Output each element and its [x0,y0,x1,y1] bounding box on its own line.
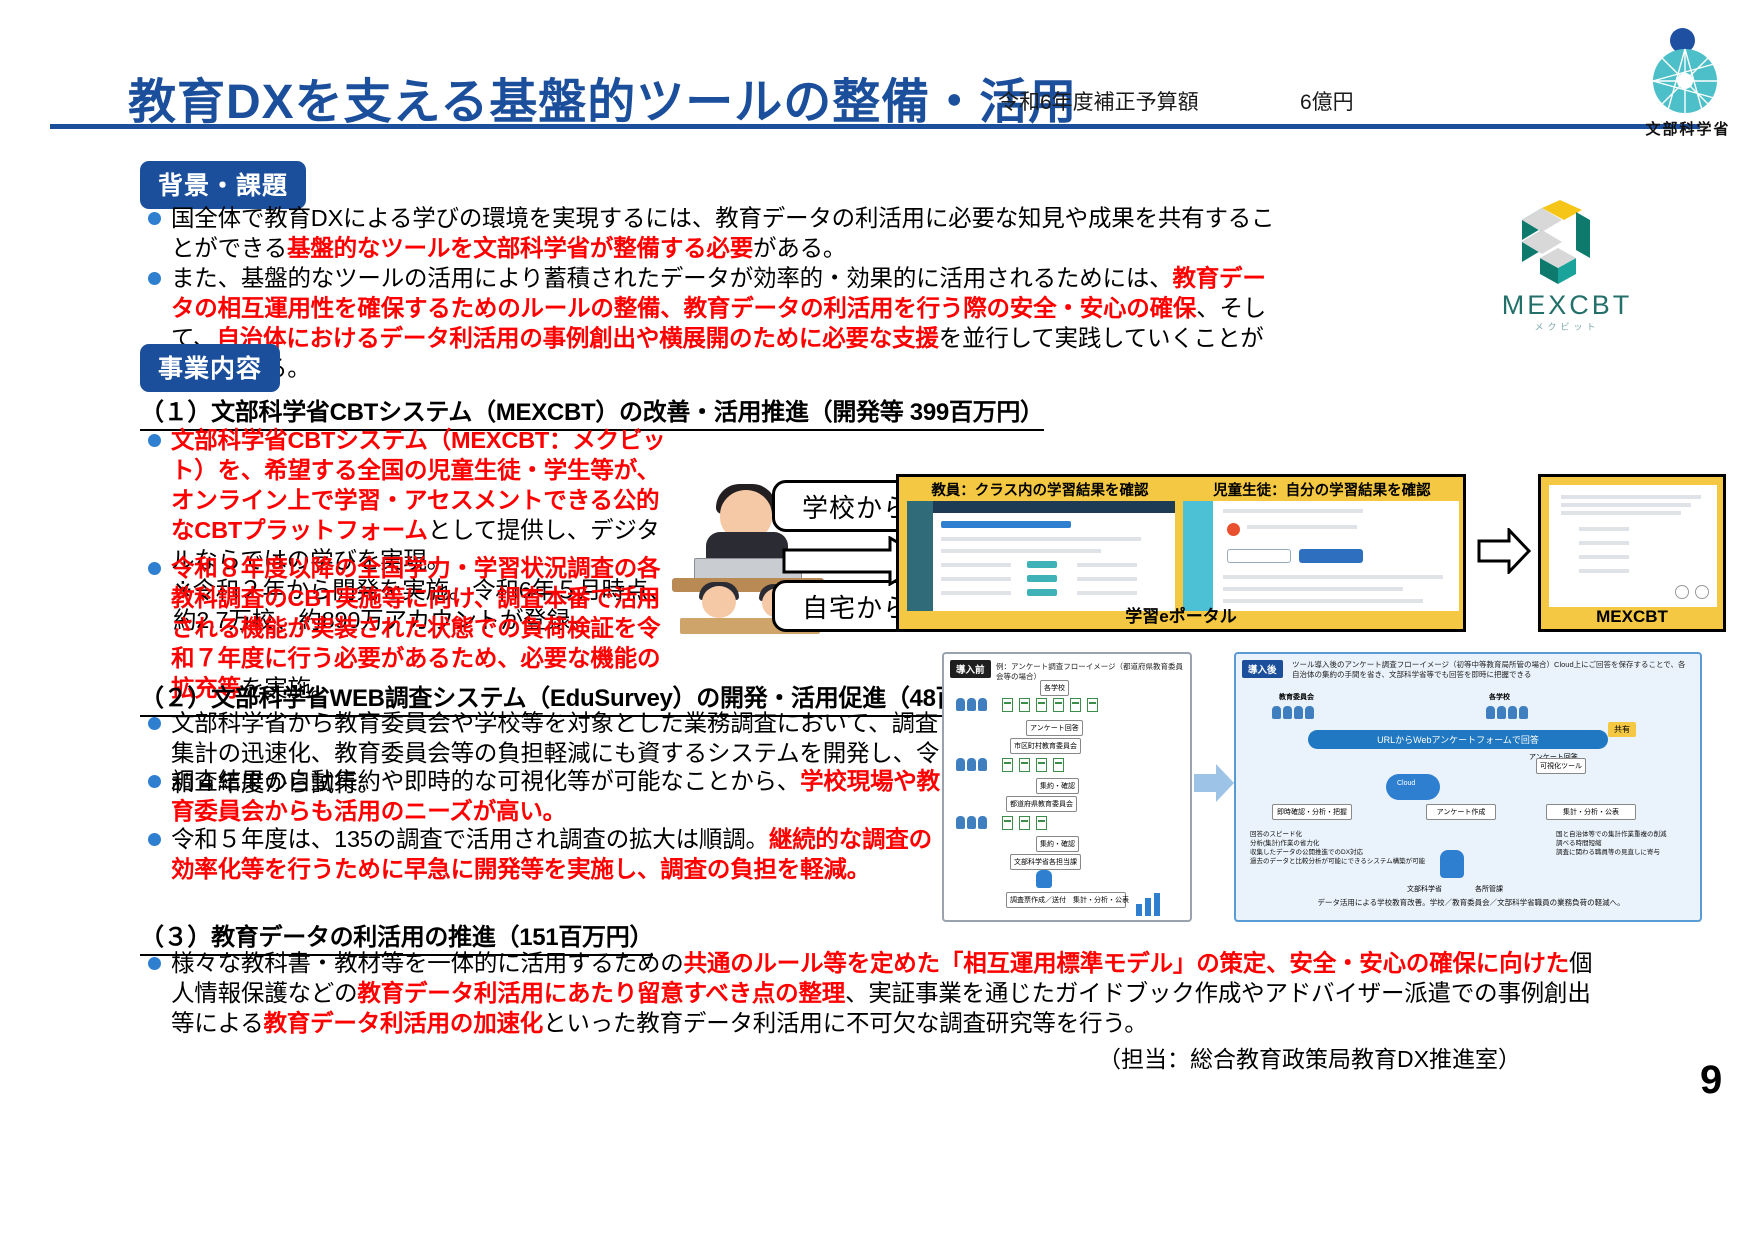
document-icon [1019,698,1030,712]
bullet-dot-icon [148,562,161,575]
screenshot-line [1579,569,1629,573]
screenshot-avatar-icon [1227,523,1240,536]
screenshot-line [1223,587,1403,591]
screenshot-chip [1027,589,1057,596]
text-run: といった教育データ利活用に不可欠な調査研究等を行う。 [543,1010,1147,1036]
document-icon [1019,816,1030,830]
survey-after-bullet: 収集したデータの公開推進でのDX対応 [1250,848,1440,857]
survey-after-bottom-note: データ活用による学校教育改善。学校／教育委員会／文部科学省職員の業務負荷の軽減へ… [1276,898,1666,908]
survey-before-box: 導入前 例：アンケート調査フローイメージ（都道府県教育委員会等の場合） 各学校 … [942,652,1192,922]
screenshot-line [1077,591,1137,595]
survey-after-bullet: 分析(集計)作業の省力化 [1250,839,1440,848]
survey-after-node-11: 各所管課 [1472,882,1506,896]
survey-before-docs-row-1 [1002,698,1098,712]
panel-mexcbt: MEXCBT [1538,474,1726,632]
survey-after-bullet: 調べる時間短縮 [1556,839,1686,848]
document-icon [1002,816,1013,830]
document-icon [1070,698,1081,712]
survey-after-node-7: 即時確認・分析・把握 [1272,804,1352,820]
bullet-dot-icon [148,434,161,447]
header-divider [50,124,1700,129]
page-number: 9 [1700,1058,1722,1103]
survey-before-node-7: 調査票作成／送付 集計・分析・公表 [1006,892,1126,908]
screenshot-button-primary [1299,549,1363,563]
screenshot-teacher-dashboard [907,501,1175,611]
document-icon [1019,758,1030,772]
survey-before-node-6: 文部科学省各担当課 [1010,854,1081,870]
screenshot-line [1561,511,1681,515]
panel-learning-eportal: 教員：クラス内の学習結果を確認 児童生徒：自分の学習結果を確認 [896,474,1466,632]
bullet-dot-icon [148,212,161,225]
document-icon [1053,758,1064,772]
survey-before-node-3: 集約・確認 [1036,778,1079,794]
survey-after-bullet: 調査に関わる職員等の見直しに寄与 [1556,848,1686,857]
budget-value: 6億円 [1300,86,1354,116]
screenshot-title-bar [941,521,1071,528]
text-run-highlight: 自治体におけるデータ利活用の事例創出や横展開のために必要な支援 [216,325,938,351]
screenshot-nav-prev-button [1675,585,1689,599]
document-icon [1053,698,1064,712]
bullet-dot-icon [148,833,161,846]
home-person-head [702,586,736,618]
mexcbt-wordmark: MEXCBT [1472,290,1662,321]
mini-people-icon [1486,706,1528,719]
screenshot-line [1579,541,1629,545]
screenshot-line [941,563,1011,567]
item3-bullet-1: 様々な教科書・教材等を一体的に活用するための共通のルール等を定めた「相互運用標準… [148,948,1598,1038]
mexcbt-cube-icon [1512,198,1622,294]
text-run-highlight: 基盤的なツールを文部科学省が整備する必要 [287,235,753,261]
survey-after-node-0: 教育委員会 [1276,690,1317,704]
bullet-dot-icon [148,717,161,730]
figure-cbt-flow: 学校から 自宅から 教員：クラス内の学習結果を確認 児童生徒：自分の学習結果を確… [672,470,1692,635]
text-run-highlight: 教育データ利活用の加速化 [264,1010,544,1036]
bullet-dot-icon [148,272,161,285]
bullet-dot-icon [148,775,161,788]
screenshot-chip [1027,561,1057,568]
survey-after-cloud-label: Cloud [1394,778,1418,789]
survey-before-node-0: 各学校 [1040,680,1069,696]
survey-after-share-badge: 共有 [1608,722,1636,737]
mini-people-icon [1272,706,1314,719]
contact-note: （担当：総合教育政策局教育DX推進室） [1098,1040,1521,1074]
survey-after-node-9: 集計・分析・公表 [1546,804,1636,820]
mext-flower-icon [1652,48,1718,114]
screenshot-sidebar [907,501,933,611]
survey-after-bullets-right: 国と自治体等での集計作業重複の削減 調べる時間短縮 調査に関わる職員等の見直しに… [1556,830,1686,857]
survey-after-bullet: 国と自治体等での集計作業重複の削減 [1556,830,1686,839]
slide: 教育DXを支える基盤的ツールの整備・活用 令和6年度補正予算額 6億円 文部科学… [0,0,1755,1241]
officer-icon [1440,850,1464,878]
officer-icon [1036,870,1052,888]
screenshot-mexcbt-item [1549,485,1717,607]
survey-before-note: 例：アンケート調査フローイメージ（都道府県教育委員会等の場合） [996,662,1186,682]
text-run-highlight: 共通のルール等を定めた「相互運用標準モデル」の策定、安全・安心の確保に向けた [684,950,1569,976]
screenshot-chip [1027,575,1057,582]
background-bullet-2-text: また、基盤的なツールの活用により蓄積されたデータが効率的・効果的に活用されるため… [171,263,1276,383]
survey-after-node-1: 各学校 [1486,690,1513,704]
survey-after-node-10: 文部科学省 [1404,882,1445,896]
screenshot-nav-next-button [1695,585,1709,599]
background-bullet-1-text: 国全体で教育DXによる学びの環境を実現するには、教育データの利活用に必要な知見や… [171,203,1276,263]
survey-before-docs-row-3 [1002,816,1047,830]
survey-after-node-8: アンケート作成 [1426,804,1496,820]
survey-after-bullet: 過去のデータと比較分析が可能にできるシステム構築が可能 [1250,857,1440,866]
bar-chart-icon [1134,890,1168,916]
screenshot-line [1247,525,1357,529]
mexcbt-logo: MEXCBT メクビット [1472,198,1662,338]
item2-bullet-2: 調査結果の自動集約や即時的な可視化等が可能なことから、学校現場や教育委員会からも… [148,766,948,826]
screenshot-line [941,549,1101,553]
survey-after-tag: 導入後 [1242,660,1283,678]
document-icon [1036,698,1047,712]
screenshot-line [1223,509,1363,513]
document-icon [1002,698,1013,712]
screenshot-line [941,591,1011,595]
text-run-highlight: 教育データ利活用にあたり留意すべき点の整理 [357,980,845,1006]
item2-bullet-3: 令和５年度は、135の調査で活用され調査の拡大は順調。継続的な調査の効率化等を行… [148,824,948,884]
survey-after-node-5: 可視化ツール [1536,758,1586,774]
screenshot-line [1579,527,1629,531]
document-icon [1036,758,1047,772]
mexcbt-reading: メクビット [1472,320,1662,333]
survey-after-bullet: 回答のスピード化 [1250,830,1440,839]
panel-eportal-head-left: 教員：クラス内の学習結果を確認 [931,479,1148,500]
document-icon [1036,816,1047,830]
screenshot-line [941,537,1141,541]
item2-bullet-2-text: 調査結果の自動集約や即時的な可視化等が可能なことから、学校現場や教育委員会からも… [171,766,948,826]
text-run: また、基盤的なツールの活用により蓄積されたデータが効率的・効果的に活用されるため… [171,265,1172,291]
screenshot-line [1579,555,1629,559]
item3-bullet-1-text: 様々な教科書・教材等を一体的に活用するための共通のルール等を定めた「相互運用標準… [171,948,1598,1038]
item2-bullet-3-text: 令和５年度は、135の調査で活用され調査の拡大は順調。継続的な調査の効率化等を行… [171,824,948,884]
screenshot-sidebar [1183,501,1213,611]
panel-mexcbt-caption: MEXCBT [1541,607,1723,627]
document-icon [1002,758,1013,772]
screenshot-line [1223,575,1443,579]
section-heading-business: 事業内容 [140,344,280,392]
panel-eportal-headings: 教員：クラス内の学習結果を確認 児童生徒：自分の学習結果を確認 [899,479,1463,500]
screenshot-line [1077,577,1137,581]
background-bullet-1: 国全体で教育DXによる学びの環境を実現するには、教育データの利活用に必要な知見や… [148,203,1276,263]
survey-after-note: ツール導入後のアンケート調査フローイメージ（初等中等教育局所管の場合）Cloud… [1292,660,1692,680]
panel-eportal-caption: 学習eポータル [899,602,1463,627]
survey-before-node-4: 都道府県教育委員会 [1006,796,1077,812]
survey-before-tag: 導入前 [950,660,991,678]
background-bullet-2: また、基盤的なツールの活用により蓄積されたデータが効率的・効果的に活用されるため… [148,263,1276,383]
section-heading-background: 背景・課題 [140,161,306,209]
survey-before-node-1: アンケート回答 [1026,720,1083,736]
text-run: 調査結果の自動集約や即時的な可視化等が可能なことから、 [171,768,800,794]
document-icon [1087,698,1098,712]
budget-label: 令和6年度補正予算額 [998,86,1199,116]
screenshot-line [1561,503,1691,507]
survey-before-node-5: 集約・確認 [1036,836,1079,852]
screenshot-topbar [933,501,1175,513]
text-run: 令和５年度は、135の調査で活用され調査の拡大は順調。 [171,826,769,852]
survey-after-url-pill: URLからWebアンケートフォームで回答 [1308,730,1608,749]
mini-people-icon [956,758,987,771]
screenshot-line [941,577,1011,581]
panel-eportal-head-right: 児童生徒：自分の学習結果を確認 [1213,479,1431,500]
mini-people-icon [956,816,987,829]
screenshot-line [1077,563,1137,567]
mini-people-icon [956,698,987,711]
text-run: 様々な教科書・教材等を一体的に活用するための [171,950,684,976]
survey-before-docs-row-2 [1002,758,1064,772]
page-title: 教育DXを支える基盤的ツールの整備・活用 [128,62,1077,132]
mext-logo-caption: 文部科学省 [1628,118,1748,139]
screenshot-line [1561,495,1701,499]
screenshot-button [1227,549,1291,563]
survey-after-box: 導入後 ツール導入後のアンケート調査フローイメージ（初等中等教育局所管の場合）C… [1234,652,1702,922]
flow-arrow-2-icon [1477,528,1531,574]
figure-edusurvey-flow: 導入前 例：アンケート調査フローイメージ（都道府県教育委員会等の場合） 各学校 … [942,652,1702,922]
survey-transition-arrow-icon [1194,762,1234,804]
bullet-dot-icon [148,957,161,970]
survey-after-bullets-left: 回答のスピード化 分析(集計)作業の省力化 収集したデータの公開推進でのDX対応… [1250,830,1440,866]
survey-before-node-2: 市区町村教育委員会 [1010,738,1081,754]
text-run: がある。 [753,235,846,261]
screenshot-student-dashboard [1183,501,1459,611]
mext-logo: 文部科学省 [1628,20,1748,130]
